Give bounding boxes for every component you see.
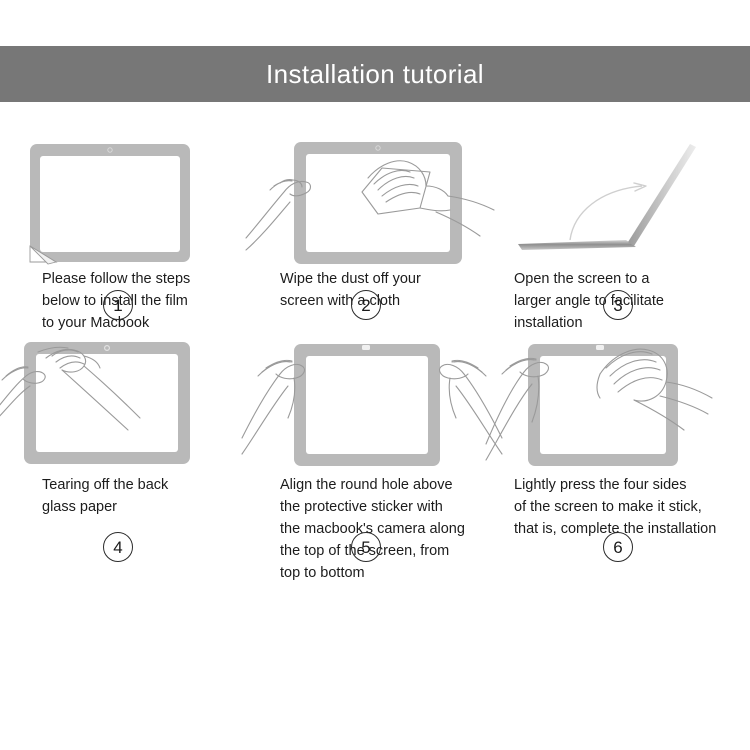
hands-aligning-film-on-screen-icon [250,334,500,474]
laptop-side-view-opening-angle-icon [500,128,750,268]
step-1-text: Please follow the steps below to install… [42,268,255,334]
step-card-5: Align the round hole above the protectiv… [250,334,500,584]
step-3-number: 3 [603,290,633,320]
step-6-text: Lightly press the four sides of the scre… [514,474,750,540]
step-card-6: Lightly press the four sides of the scre… [500,334,750,584]
step-card-4: Tearing off the back glass paper 4 [0,334,250,584]
header-band: Installation tutorial [0,46,750,102]
hands-wiping-screen-with-cloth-icon [250,128,500,268]
step-2-number: 2 [351,290,381,320]
step-4-illustration [0,334,250,474]
steps-grid: Please follow the steps below to install… [0,128,750,584]
step-card-1: Please follow the steps below to install… [0,128,250,334]
page-title: Installation tutorial [266,61,484,87]
hands-pressing-screen-edges-icon [500,334,750,474]
step-1-number: 1 [103,290,133,320]
step-5-illustration [250,334,500,474]
step-card-3: Open the screen to a larger angle to fac… [500,128,750,334]
step-2-illustration [250,128,500,268]
step-5-text: Align the round hole above the protectiv… [280,474,513,584]
step-1-illustration [0,128,250,268]
step-card-2: Wipe the dust off your screen with a clo… [250,128,500,334]
step-6-illustration [500,334,750,474]
step-6-number: 6 [603,532,633,562]
hands-tearing-back-paper-icon [0,334,250,474]
step-4-text: Tearing off the back glass paper [42,474,255,518]
step-2-text: Wipe the dust off your screen with a clo… [280,268,513,312]
step-5-number: 5 [351,532,381,562]
macbook-screen-with-peeling-film-icon [0,128,250,268]
step-3-illustration [500,128,750,268]
step-4-number: 4 [103,532,133,562]
